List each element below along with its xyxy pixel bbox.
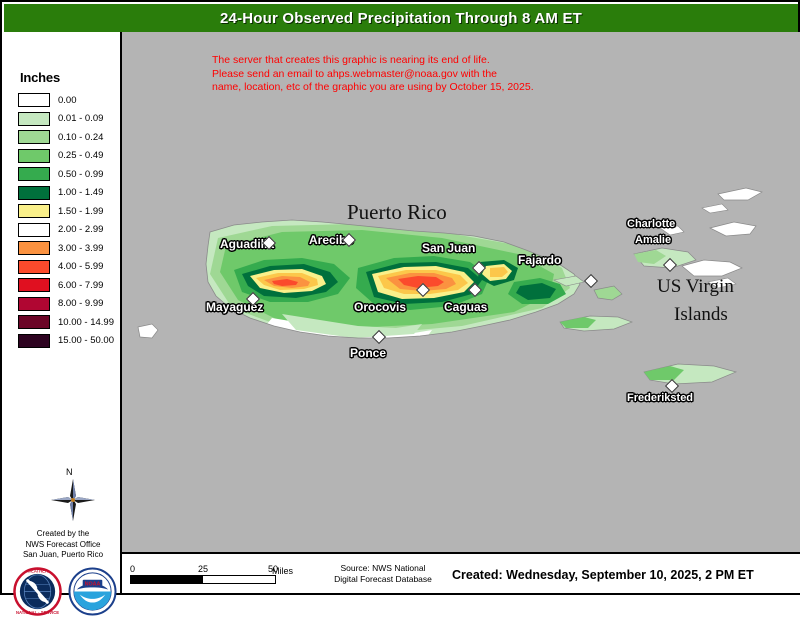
page-title: 24-Hour Observed Precipitation Through 8…	[220, 10, 582, 27]
region-label: Islands	[674, 304, 728, 326]
culebra-island	[594, 286, 622, 300]
city-label: San Juan	[422, 241, 475, 255]
legend-title: Inches	[20, 70, 122, 85]
compass-rose: N	[44, 470, 102, 528]
legend-label: 4.00 - 5.99	[58, 261, 103, 272]
source-line-2: Digital Forecast Database	[318, 574, 448, 585]
legend-rows: 0.000.01 - 0.090.10 - 0.240.25 - 0.490.5…	[18, 91, 122, 350]
legend-swatch	[18, 130, 50, 144]
header-bar: 24-Hour Observed Precipitation Through 8…	[4, 4, 798, 32]
legend-item: 1.00 - 1.49	[18, 184, 122, 202]
legend-swatch	[18, 297, 50, 311]
legend-swatch	[18, 112, 50, 126]
svg-text:NATIONAL · SERVICE: NATIONAL · SERVICE	[16, 610, 59, 615]
scale-tick-25: 25	[198, 564, 208, 574]
agency-logos: WEATHER NATIONAL · SERVICE NOAA	[13, 563, 117, 619]
scale-segment-empty	[203, 576, 275, 583]
legend-item: 4.00 - 5.99	[18, 258, 122, 276]
credit-line-1: Created by the	[4, 529, 122, 540]
legend-swatch	[18, 223, 50, 237]
legend-label: 1.00 - 1.49	[58, 187, 103, 198]
legend-swatch	[18, 204, 50, 218]
legend-swatch	[18, 315, 50, 329]
noaa-seal-logo: NOAA	[68, 567, 117, 616]
legend-label: 15.00 - 50.00	[58, 335, 114, 346]
legend-item: 8.00 - 9.99	[18, 295, 122, 313]
created-timestamp: Created: Wednesday, September 10, 2025, …	[452, 568, 754, 582]
nws-seal-logo: WEATHER NATIONAL · SERVICE	[13, 567, 62, 616]
scale-tick-0: 0	[130, 564, 135, 574]
svg-text:WEATHER: WEATHER	[27, 568, 48, 573]
legend-label: 2.00 - 2.99	[58, 224, 103, 235]
city-label: Orocovis	[354, 300, 406, 314]
st-john-island	[682, 260, 742, 276]
legend-item: 0.00	[18, 91, 122, 109]
legend-item: 15.00 - 50.00	[18, 332, 122, 350]
legend-swatch	[18, 93, 50, 107]
attribution-text: Created by the NWS Forecast Office San J…	[4, 529, 122, 561]
legend-item: 2.00 - 2.99	[18, 221, 122, 239]
legend-item: 0.25 - 0.49	[18, 147, 122, 165]
legend-swatch	[18, 241, 50, 255]
legend-swatch	[18, 149, 50, 163]
legend-label: 0.01 - 0.09	[58, 113, 103, 124]
svg-text:NOAA: NOAA	[85, 581, 101, 587]
compass-north-label: N	[66, 467, 73, 477]
region-label: US Virgin	[657, 276, 734, 298]
credit-line-2: NWS Forecast Office	[4, 540, 122, 551]
bvi-island-north	[718, 188, 762, 200]
legend-label: 0.25 - 0.49	[58, 150, 103, 161]
scale-segment-filled	[131, 576, 203, 583]
city-label: Frederiksted	[627, 392, 693, 404]
tortola-island	[710, 222, 756, 236]
city-label: Ponce	[350, 346, 386, 360]
source-line-1: Source: NWS National	[318, 563, 448, 574]
puerto-rico-precip	[202, 212, 592, 352]
compass-star-icon	[44, 470, 102, 528]
legend-item: 0.10 - 0.24	[18, 128, 122, 146]
legend-item: 6.00 - 7.99	[18, 276, 122, 294]
source-attribution: Source: NWS National Digital Forecast Da…	[318, 563, 448, 585]
region-label: Puerto Rico	[347, 200, 447, 225]
small-island-b	[702, 204, 728, 213]
legend-label: 1.50 - 1.99	[58, 206, 103, 217]
legend-label: 3.00 - 3.99	[58, 243, 103, 254]
legend-label: 8.00 - 9.99	[58, 298, 103, 309]
city-label: Amalie	[635, 234, 671, 246]
legend-label: 0.00	[58, 95, 77, 106]
legend-swatch	[18, 334, 50, 348]
legend-item: 10.00 - 14.99	[18, 313, 122, 331]
legend-panel: Inches 0.000.01 - 0.090.10 - 0.240.25 - …	[4, 32, 122, 593]
precipitation-legend: Inches 0.000.01 - 0.090.10 - 0.240.25 - …	[18, 70, 122, 350]
precipitation-map-page: 24-Hour Observed Precipitation Through 8…	[0, 0, 800, 595]
legend-label: 10.00 - 14.99	[58, 317, 114, 328]
legend-label: 0.10 - 0.24	[58, 132, 103, 143]
city-label: Caguas	[444, 300, 487, 314]
city-label: Charlotte	[627, 218, 675, 230]
legend-label: 6.00 - 7.99	[58, 280, 103, 291]
footer-bar: 0 25 50 Miles Source: NWS National Digit…	[122, 552, 800, 593]
legend-swatch	[18, 167, 50, 181]
credit-line-3: San Juan, Puerto Rico	[4, 550, 122, 561]
legend-label: 0.50 - 0.99	[58, 169, 103, 180]
legend-item: 1.50 - 1.99	[18, 202, 122, 220]
legend-swatch	[18, 278, 50, 292]
legend-item: 0.50 - 0.99	[18, 165, 122, 183]
legend-item: 3.00 - 3.99	[18, 239, 122, 257]
legend-swatch	[18, 186, 50, 200]
mona-island	[138, 324, 158, 338]
legend-item: 0.01 - 0.09	[18, 110, 122, 128]
legend-swatch	[18, 260, 50, 274]
scale-bar-graphic	[130, 575, 276, 584]
scale-units-label: Miles	[272, 566, 293, 576]
city-label: Fajardo	[518, 253, 561, 267]
map-canvas[interactable]: The server that creates this graphic is …	[122, 32, 800, 552]
